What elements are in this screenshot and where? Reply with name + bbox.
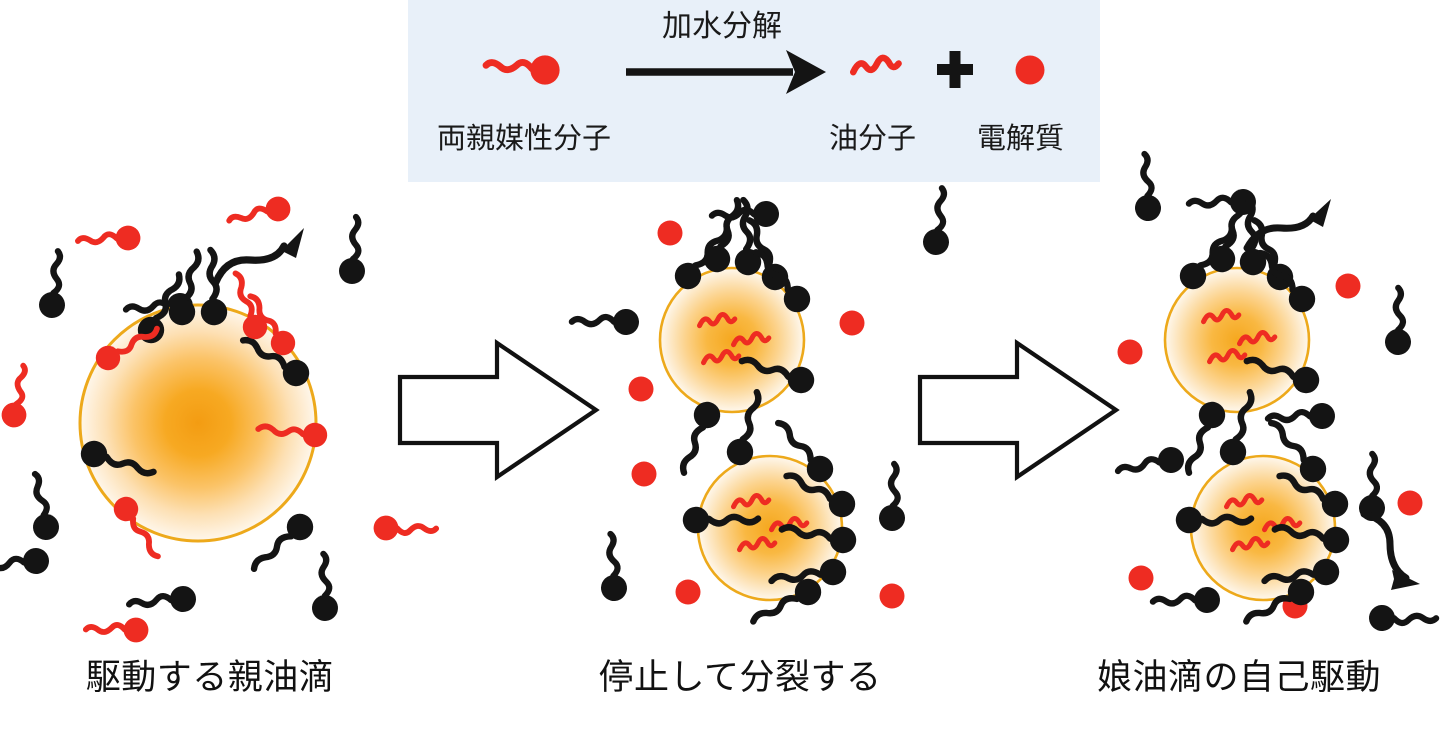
electrolyte-dot	[1118, 340, 1143, 365]
electrolyte-dot	[658, 221, 683, 246]
electrolyte-dot	[880, 584, 905, 609]
legend-amphiphile-label: 両親媒性分子	[437, 125, 611, 154]
stage3-motion-arrow-down	[1364, 514, 1420, 590]
caption-stage-2: 停止して分裂する	[530, 660, 950, 695]
stage1-motion-arrow	[216, 228, 304, 282]
block-arrow-stage1-to-stage2	[400, 343, 596, 477]
electrolyte-dot	[840, 311, 865, 336]
legend-reaction-label: 加水分解	[662, 12, 782, 42]
electrolyte-dot	[676, 580, 701, 605]
stage-3-group	[1116, 153, 1437, 636]
legend-oil-label: 油分子	[829, 125, 916, 154]
daughter-droplet-c	[1165, 268, 1309, 412]
stage-1-group	[0, 193, 437, 645]
stage-2-group	[571, 188, 951, 636]
electrolyte-dot	[629, 377, 654, 402]
electrolyte-dot	[1398, 491, 1423, 516]
diagram-svg	[0, 0, 1448, 729]
electrolyte-dot	[1336, 274, 1361, 299]
caption-stage-3: 娘油滴の自己駆動	[1030, 660, 1448, 695]
daughter-droplet-a	[660, 268, 804, 412]
legend-electrolyte-icon	[1016, 56, 1045, 85]
figure-canvas: 加水分解 両親媒性分子 油分子 電解質 駆動する親油滴 停止して分裂する 娘油滴…	[0, 0, 1448, 729]
electrolyte-dot	[632, 462, 657, 487]
legend-electrolyte-label: 電解質	[977, 125, 1064, 154]
block-arrow-stage2-to-stage3	[920, 343, 1116, 477]
caption-stage-1: 駆動する親油滴	[0, 660, 420, 695]
electrolyte-dot	[1129, 566, 1154, 591]
